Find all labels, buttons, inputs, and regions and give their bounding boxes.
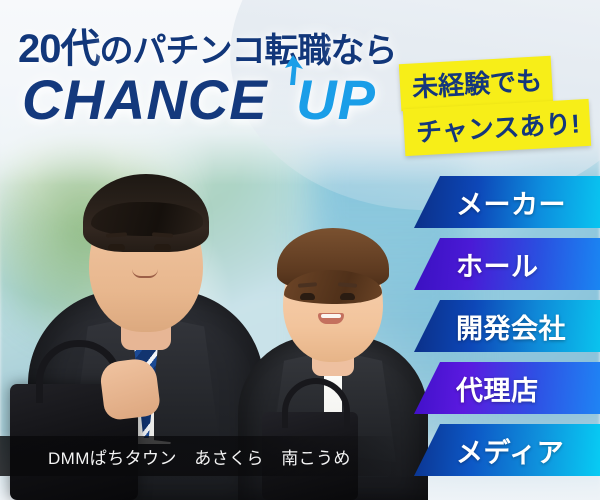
woman-mouth (318, 313, 344, 324)
status-badge: 未経験でも チャンスあり! (400, 58, 590, 153)
advertisement-banner[interactable]: 20代のパチンコ転職なら CHANCE UP 未経験でも チャンスあり! メーカ… (0, 0, 600, 500)
category-list: メーカー ホール 開発会社 代理店 メディア (414, 176, 600, 486)
category-label: メーカー (456, 183, 566, 222)
credit-bar: DMMぱちタウン あさくら 南こうめ (0, 436, 400, 476)
category-label: ホール (456, 245, 539, 284)
category-button-agency[interactable]: 代理店 (414, 362, 600, 414)
headline-tail: なら (331, 32, 397, 70)
headline-lead: 20代 (18, 27, 100, 71)
logo-up-text: UP (296, 68, 376, 131)
category-label: 代理店 (456, 369, 539, 408)
man-hair (83, 174, 209, 252)
category-button-maker[interactable]: メーカー (414, 176, 600, 228)
man-eye-left (108, 244, 125, 250)
category-button-media[interactable]: メディア (414, 424, 600, 476)
woman-eye-right (340, 293, 355, 300)
category-button-hall[interactable]: ホール (414, 238, 600, 290)
credit-text: DMMぱちタウン あさくら 南こうめ (48, 444, 351, 469)
woman-eye-left (300, 293, 315, 300)
man-eye-right (154, 244, 171, 250)
logo-word-up: UP (280, 68, 376, 131)
logo-word-chance: CHANCE (22, 68, 268, 131)
category-button-developer[interactable]: 開発会社 (414, 300, 600, 352)
chance-up-logo: CHANCE UP (22, 72, 376, 128)
badge-line-2: チャンスあり! (403, 99, 591, 156)
up-arrow-icon (283, 55, 303, 85)
man-hand (99, 357, 162, 421)
headline: 20代のパチンコ転職なら (18, 16, 397, 74)
category-label: メディア (456, 431, 564, 470)
category-label: 開発会社 (456, 307, 566, 346)
